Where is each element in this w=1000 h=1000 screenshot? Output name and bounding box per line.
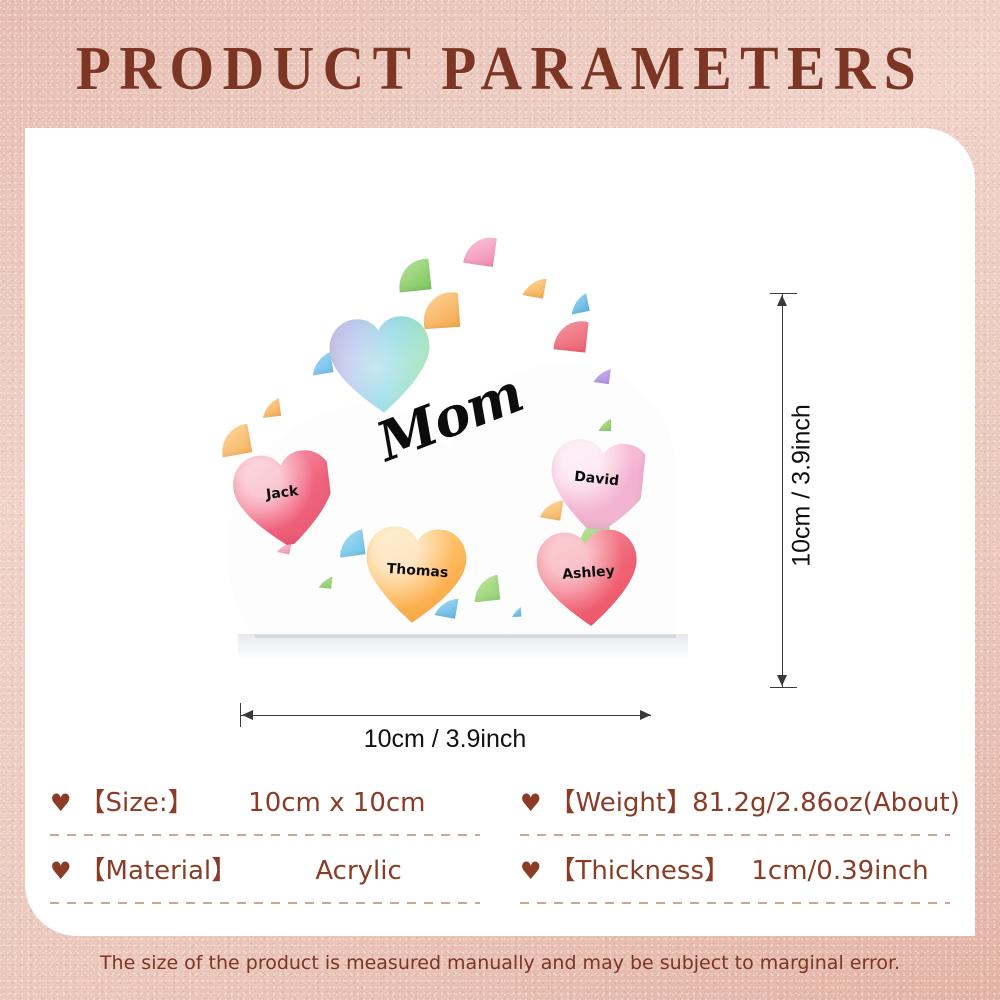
page-title: PRODUCT PARAMETERS xyxy=(35,34,965,105)
spec-value: 81.2g/2.86oz(About) xyxy=(692,788,960,818)
spec-row-weight: ♥ 【Weight】 81.2g/2.86oz(About) xyxy=(520,768,950,836)
width-dimension-label: 10cm / 3.9inch xyxy=(275,725,615,754)
spec-key-label: 【Size:】 xyxy=(80,782,194,819)
width-dimension-tick xyxy=(240,703,241,727)
product-photo: Jack Thomas David Ashley Mom xyxy=(220,198,720,718)
confetti-heart xyxy=(591,365,611,384)
spec-key: ♥ 【Thickness】 xyxy=(520,850,730,887)
heart-icon: ♥ xyxy=(50,791,72,815)
confetti-heart xyxy=(396,258,431,292)
name-heart-ashley: Ashley xyxy=(535,528,644,633)
confetti-heart xyxy=(566,292,590,315)
name-heart-jack: Jack xyxy=(230,447,336,550)
spec-card: Jack Thomas David Ashley Mom xyxy=(25,128,975,936)
confetti-heart xyxy=(463,234,497,267)
acrylic-plaque: Jack Thomas David Ashley Mom xyxy=(220,198,680,638)
spec-column-gap xyxy=(480,836,520,904)
height-dimension-line xyxy=(782,293,783,688)
width-dimension-line xyxy=(240,715,651,716)
spec-key-label: 【Thickness】 xyxy=(550,850,731,887)
spec-key-label: 【Material】 xyxy=(80,850,238,887)
confetti-heart xyxy=(259,397,281,418)
spec-row-size: ♥ 【Size:】 10cm x 10cm xyxy=(50,768,480,836)
height-dimension-tick-bottom xyxy=(770,687,797,688)
heart-icon: ♥ xyxy=(50,859,72,883)
spec-key: ♥ 【Material】 xyxy=(50,850,237,887)
spec-key: ♥ 【Weight】 xyxy=(520,782,692,819)
arrow-left-icon xyxy=(242,710,253,720)
height-dimension-tick-top xyxy=(770,293,797,294)
main-rainbow-heart: Mom xyxy=(328,305,573,543)
spec-table: ♥ 【Size:】 10cm x 10cm ♥ 【Weight】 81.2g/2… xyxy=(50,768,950,904)
heart-icon: ♥ xyxy=(520,791,542,815)
name-heart-thomas: Thomas xyxy=(362,524,473,631)
confetti-heart xyxy=(315,572,332,589)
spec-value: Acrylic xyxy=(237,856,480,886)
spec-row-material: ♥ 【Material】 Acrylic xyxy=(50,836,480,904)
height-dimension: 10cm / 3.9inch xyxy=(760,293,880,693)
arrow-right-icon xyxy=(640,710,651,720)
confetti-heart xyxy=(472,575,500,603)
arrow-down-icon xyxy=(777,675,787,686)
confetti-heart xyxy=(521,274,546,299)
disclaimer-note: The size of the product is measured manu… xyxy=(0,952,1000,974)
heart-icon: ♥ xyxy=(520,859,542,883)
spec-row-thickness: ♥ 【Thickness】 1cm/0.39inch xyxy=(520,836,950,904)
confetti-heart xyxy=(218,424,253,458)
spec-key-label: 【Weight】 xyxy=(550,782,693,819)
product-parameters-page: PRODUCT PARAMETERS xyxy=(0,0,1000,1000)
height-dimension-label: 10cm / 3.9inch xyxy=(788,336,817,636)
confetti-heart xyxy=(595,416,611,431)
spec-value: 1cm/0.39inch xyxy=(730,856,950,886)
spec-column-gap xyxy=(480,768,520,836)
confetti-heart xyxy=(507,604,522,618)
plaque-reflection xyxy=(238,634,688,660)
spec-key: ♥ 【Size:】 xyxy=(50,782,194,819)
spec-value: 10cm x 10cm xyxy=(194,788,480,818)
arrow-up-icon xyxy=(777,295,787,306)
